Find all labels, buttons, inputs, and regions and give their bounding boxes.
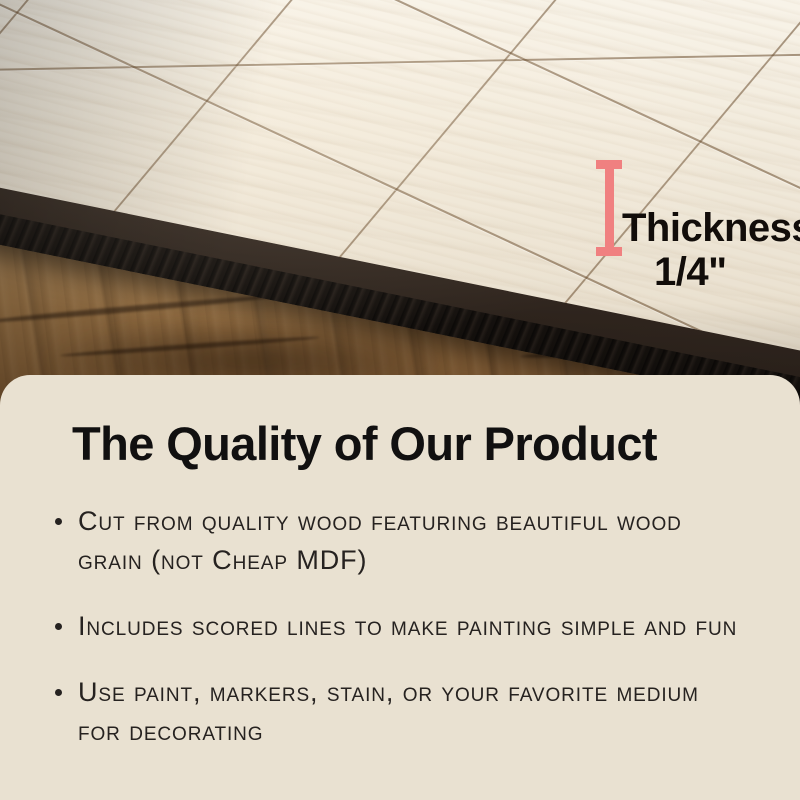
feature-list-item: Includes scored lines to make painting s…: [46, 607, 746, 645]
thickness-callout: Thickness 1/4": [596, 160, 800, 290]
thickness-value: 1/4": [654, 252, 727, 292]
thickness-bracket-icon: [596, 160, 622, 256]
panel-title: The Quality of Our Product: [72, 419, 754, 468]
product-feature-card: Thickness 1/4" The Quality of Our Produc…: [0, 0, 800, 800]
product-photo: Thickness 1/4": [0, 0, 800, 420]
bracket-stem: [605, 160, 614, 256]
bracket-cap-bottom: [596, 247, 622, 256]
feature-list-item: Use paint, markers, stain, or your favor…: [46, 673, 746, 750]
feature-list: Cut from quality wood featuring beautifu…: [46, 502, 754, 750]
feature-list-item: Cut from quality wood featuring beautifu…: [46, 502, 746, 579]
quality-info-panel: The Quality of Our Product Cut from qual…: [0, 375, 800, 800]
thickness-label: Thickness: [622, 208, 800, 248]
